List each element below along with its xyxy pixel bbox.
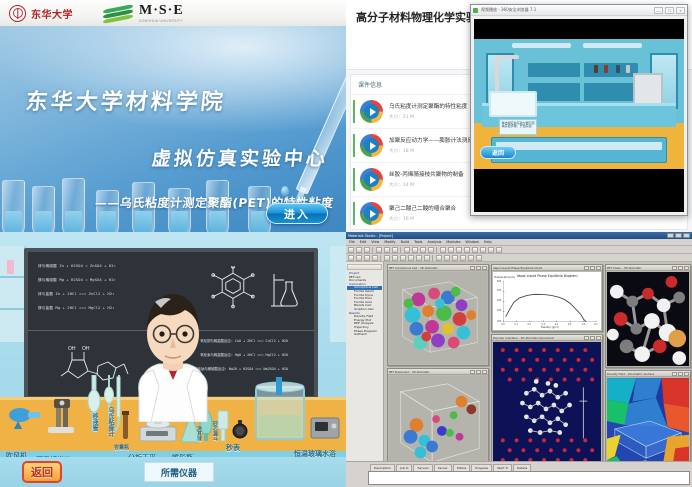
toolbar-icon[interactable]: [472, 247, 478, 253]
toolbar-icon[interactable]: [384, 247, 390, 253]
university-name: 东华大学: [31, 6, 73, 21]
chart-plot-area: Temperature (K) Density (g/cc): [503, 281, 597, 322]
toolbar-icon[interactable]: [392, 247, 398, 253]
mse-wave-icon: [103, 5, 133, 22]
density-field-render: [607, 378, 689, 472]
pane-titlebar[interactable]: PET Amorphous Cell - 3D Atomistic: [388, 265, 488, 271]
temperature-controller-icon[interactable]: [310, 415, 340, 441]
university-seal-icon: [9, 5, 26, 22]
toolbar-icon[interactable]: [384, 255, 390, 261]
window-controls: — □ ×: [654, 7, 685, 14]
amorphous-cell-render: [389, 272, 487, 364]
minimize-button[interactable]: [584, 266, 589, 270]
scientist-character: [119, 272, 227, 422]
hair-dryer-icon[interactable]: [8, 403, 44, 429]
menu-analysis[interactable]: Analysis: [427, 240, 441, 244]
project-tree[interactable]: Project PET.xsd Documents Calculation Am…: [346, 262, 384, 461]
toolbar-icon[interactable]: [444, 255, 450, 261]
x-tick: 0.7: [594, 323, 597, 326]
tab-description[interactable]: Description: [370, 464, 395, 471]
pane-titlebar[interactable]: Vapor-Liquid Phase Equilibria Chart: [492, 265, 602, 271]
stopwatch-icon[interactable]: [232, 419, 248, 441]
mse-logo-text: M·S·E DONGHUA UNIVERSITY: [139, 3, 184, 23]
pane-titlebar[interactable]: Polymer Interface - 3D Atomistic Documen…: [492, 335, 602, 341]
flask-stand-icon: [270, 270, 300, 310]
shelf: [584, 83, 638, 101]
screenshot-collage: 东华大学材料学院 虚拟仿真实验中心 ——乌氏粘度计测定聚酯(PET)的特性粘度 …: [0, 0, 692, 487]
toolbar-icon[interactable]: [356, 255, 362, 261]
toolbar-icon[interactable]: [376, 247, 382, 253]
toolbar-icon[interactable]: [412, 247, 418, 253]
toolbar-icon[interactable]: [408, 255, 414, 261]
chart-xlabel: Density (g/cc): [541, 326, 559, 329]
instruction-note: 单击相应的实验仪器可查看实验步骤，开始实验: [499, 119, 537, 135]
close-button[interactable]: [684, 372, 689, 376]
toolbar-icon[interactable]: [356, 247, 362, 253]
app-icon: [473, 8, 478, 13]
project-tree-header: [347, 264, 382, 270]
label-suction-bulb: 洗耳球: [196, 426, 203, 441]
pane-viewport[interactable]: [389, 272, 487, 364]
toolbar-icon[interactable]: [436, 255, 442, 261]
pane-viewport[interactable]: [493, 342, 601, 472]
splash-subtitle: 虚拟仿真实验中心: [151, 144, 330, 171]
toolbar-icon[interactable]: [460, 255, 466, 261]
x-tick: 0.6: [582, 323, 585, 326]
y-tick: 300: [497, 309, 501, 312]
play-icon[interactable]: [360, 168, 383, 191]
page-title: 高分子材料物理化学实验: [356, 9, 477, 25]
toolbar-icon[interactable]: [448, 247, 454, 253]
tab-status[interactable]: Status: [453, 464, 471, 471]
equation-line: 镁与盐酸 Mg + 2HCl === MgCl2 + H2↑: [38, 306, 115, 311]
svg-text:OH: OH: [82, 346, 90, 352]
x-tick: 0.3: [542, 323, 545, 326]
tab-progress[interactable]: Progress: [471, 464, 492, 471]
control-panel-row: [496, 142, 662, 150]
pane-amorphous-cell[interactable]: PET Amorphous Cell - 3D Atomistic: [387, 264, 489, 366]
menu-file[interactable]: File: [349, 240, 355, 244]
shelf: [528, 63, 580, 77]
label-pipette: 移液管: [90, 413, 99, 431]
minimize-button[interactable]: [584, 336, 589, 340]
close-button[interactable]: [683, 233, 690, 238]
play-icon[interactable]: [360, 100, 383, 123]
ceiling-light: [583, 43, 642, 48]
play-icon[interactable]: [360, 202, 383, 225]
minimize-button[interactable]: [672, 266, 677, 270]
pane-atomistic-zoom[interactable]: PET Chain - 3D Atomistic: [605, 264, 691, 368]
minimize-button[interactable]: —: [654, 7, 663, 14]
toolbar-separator: [380, 255, 382, 261]
menu-window[interactable]: Window: [466, 240, 479, 244]
tab-server[interactable]: Server: [434, 464, 452, 471]
pane-title: PET Amorphous Cell - 3D Atomistic: [389, 266, 469, 270]
pane-viewport[interactable]: [607, 272, 689, 366]
y-tick: 600: [497, 280, 501, 283]
pane-titlebar[interactable]: PET Chain - 3D Atomistic: [606, 265, 690, 271]
toolbar-icon[interactable]: [372, 255, 378, 261]
ms-window-controls: [667, 233, 690, 238]
pane-titlebar[interactable]: PET Dispersed - 3D Atomistic: [388, 369, 488, 375]
atomistic-render: [607, 272, 689, 366]
pane-viewport[interactable]: Vapor-Liquid Phase Equilibria Diagram Te…: [493, 272, 601, 330]
menu-build[interactable]: Build: [401, 240, 410, 244]
maximize-button[interactable]: [590, 266, 595, 270]
toolbar-icon[interactable]: [424, 255, 430, 261]
reagent-bottle-icon: [616, 65, 620, 73]
minimize-button[interactable]: [470, 266, 475, 270]
minimize-button[interactable]: [672, 372, 677, 376]
toolbar-separator: [432, 255, 434, 261]
toolbar-icon[interactable]: [456, 247, 462, 253]
x-tick: 0.2: [527, 323, 530, 326]
x-tick: 0.0: [501, 323, 504, 326]
menu-edit[interactable]: Edit: [360, 240, 367, 244]
pane-title: PET Chain - 3D Atomistic: [607, 266, 671, 270]
close-button[interactable]: ×: [676, 7, 685, 14]
ms-titlebar: Materials Studio - [Project]: [346, 232, 692, 239]
ms-toolbar-row-2[interactable]: [346, 254, 692, 262]
close-button[interactable]: [684, 266, 689, 270]
pane-phase-chart[interactable]: Vapor-Liquid Phase Equilibria Chart Vapo…: [491, 264, 603, 332]
toolbar-icon[interactable]: [440, 247, 446, 253]
x-tick: 0.5: [568, 323, 571, 326]
close-button[interactable]: [596, 336, 601, 340]
panel-splash-screen: 东华大学材料学院 虚拟仿真实验中心 ——乌氏粘度计测定聚酯(PET)的特性粘度 …: [0, 0, 346, 232]
pane-interface-view[interactable]: Polymer Interface - 3D Atomistic Documen…: [491, 334, 603, 474]
toolbar-icon[interactable]: [348, 255, 354, 261]
menu-help[interactable]: Help: [484, 240, 492, 244]
toolbar-icon[interactable]: [468, 255, 474, 261]
video-viewport[interactable]: 单击相应的实验仪器可查看实验步骤，开始实验 返回: [474, 19, 684, 212]
toolbar-icon[interactable]: [404, 247, 410, 253]
menu-view[interactable]: View: [371, 240, 379, 244]
toolbar-icon[interactable]: [348, 247, 354, 253]
menu-modules[interactable]: Modules: [446, 240, 460, 244]
svg-text:OH: OH: [68, 346, 76, 352]
y-tick: 400: [497, 299, 501, 302]
reagent-bottle-icon: [594, 65, 598, 73]
maximize-button[interactable]: [590, 336, 595, 340]
toolbar-icon[interactable]: [364, 255, 370, 261]
pane-dispersed-cell[interactable]: PET Dispersed - 3D Atomistic: [387, 368, 489, 474]
sink-icon: [489, 91, 537, 117]
maximize-button[interactable]: □: [665, 7, 674, 14]
video-window-title: 视频播放 - 360安全浏览器 7.1: [481, 7, 654, 13]
chart-ylabel: Temperature (K): [494, 276, 515, 279]
tab-details[interactable]: Details: [513, 464, 531, 471]
status-tabs[interactable]: Description Job Id Servers Server Status…: [346, 462, 692, 471]
maximize-button[interactable]: [678, 372, 683, 376]
tree-item[interactable]: Isotherm: [347, 333, 382, 337]
toolbar-icon[interactable]: [496, 247, 502, 253]
toolbar-icon[interactable]: [392, 255, 398, 261]
pane-viewport[interactable]: [389, 376, 487, 472]
equation-line: 锌与盐酸 Zn + 2HCl === ZnCl2 + H2↑: [38, 292, 115, 297]
toolbar-icon[interactable]: [476, 255, 482, 261]
toolbar-icon[interactable]: [464, 247, 470, 253]
status-log-area[interactable]: [368, 471, 690, 485]
maximize-button[interactable]: [675, 233, 682, 238]
label-volumetric-flask: 容量瓶: [114, 444, 129, 451]
back-button[interactable]: 返回: [22, 461, 62, 483]
label-ubbelohde-viscometer: 乌氏粘度计: [106, 407, 115, 437]
toolbar-icon[interactable]: [488, 247, 494, 253]
toolbar-separator: [400, 247, 402, 253]
required-instruments-button[interactable]: 所需仪器: [144, 462, 214, 482]
minimize-button[interactable]: [470, 370, 475, 374]
interface-render: [493, 342, 601, 472]
ms-document-panes: PET Amorphous Cell - 3D Atomistic: [385, 262, 692, 461]
maximize-button[interactable]: [476, 370, 481, 374]
video-back-button[interactable]: 返回: [480, 146, 516, 159]
ms-status-panel: Description Job Id Servers Server Status…: [346, 461, 692, 487]
toolbar-icon[interactable]: [364, 247, 370, 253]
toolbar-separator: [372, 247, 374, 253]
ceiling-light: [512, 43, 571, 48]
x-tick: 0.1: [514, 323, 517, 326]
ms-menubar[interactable]: File Edit View Modify Build Tools Analys…: [346, 239, 692, 246]
mse-main-text: M·S·E: [139, 3, 184, 19]
menu-modify[interactable]: Modify: [384, 240, 395, 244]
pane-title: Polymer Interface - 3D Atomistic Documen…: [493, 336, 583, 340]
menu-tools[interactable]: Tools: [414, 240, 422, 244]
toolbar-icon[interactable]: [480, 247, 486, 253]
tab-servers[interactable]: Servers: [413, 464, 432, 471]
logo-bar: 东华大学 M·S·E DONGHUA UNIVERSITY: [0, 0, 346, 26]
label-stopwatch: 秒表: [226, 443, 240, 453]
toolbar-icon[interactable]: [416, 255, 422, 261]
tab-job-id[interactable]: Job Id: [396, 464, 412, 471]
constant-temperature-water-bath-icon[interactable]: [252, 377, 308, 443]
toolbar-icon[interactable]: [452, 255, 458, 261]
pane-density-field[interactable]: Density Field - Volumetric Surface: [605, 370, 691, 474]
video-window-titlebar: 视频播放 - 360安全浏览器 7.1 — □ ×: [471, 5, 687, 16]
toolbar-icon[interactable]: [420, 247, 426, 253]
virtual-lab-scene: 单击相应的实验仪器可查看实验步骤，开始实验 返回: [474, 39, 684, 169]
chart-svg: [503, 281, 597, 322]
x-tick: 0.4: [555, 323, 558, 326]
ms-window-title: Materials Studio - [Project]: [348, 234, 393, 238]
pane-titlebar[interactable]: Density Field - Volumetric Surface: [606, 371, 690, 377]
ms-toolbar-row-1[interactable]: [346, 246, 692, 254]
enter-button[interactable]: 进入: [266, 203, 328, 224]
item-size: 大小：16 M: [389, 216, 671, 222]
left-wall-shelf: [0, 246, 26, 342]
y-tick: 500: [497, 289, 501, 292]
ms-workspace: Project PET.xsd Documents Calculation Am…: [346, 262, 692, 461]
dispersed-cell-render: [389, 376, 487, 472]
maximize-button[interactable]: [476, 266, 481, 270]
pane-title: Density Field - Volumetric Surface: [607, 372, 671, 376]
maximize-button[interactable]: [678, 266, 683, 270]
abbe-refractometer-icon[interactable]: [44, 395, 78, 435]
toolbar-separator: [436, 247, 438, 253]
panel-courseware-page: 高分子材料物理化学实验 课件信息 乌氏粘度计测定聚酯的特性粘度 大小：21 M …: [346, 0, 692, 232]
equation-line: 锌与稀硫酸 Zn + H2SO4 = ZnSO4 + H2↑: [38, 264, 116, 269]
label-sintered-funnel: 砂芯漏斗: [212, 421, 219, 441]
splash-background-photo: 东华大学材料学院 虚拟仿真实验中心 ——乌氏粘度计测定聚酯(PET)的特性粘度 …: [0, 26, 346, 232]
reagent-bottle-icon: [626, 65, 630, 73]
pane-title: PET Dispersed - 3D Atomistic: [389, 370, 469, 374]
close-button[interactable]: [482, 370, 487, 374]
control-panel[interactable]: [491, 137, 667, 163]
toolbar-icon[interactable]: [428, 247, 434, 253]
splash-title: 东华大学材料学院: [24, 84, 227, 116]
right-wall-shelf: [330, 246, 346, 342]
close-button[interactable]: [482, 266, 487, 270]
panel-materials-studio: Materials Studio - [Project] File Edit V…: [346, 232, 692, 487]
tab-start-time[interactable]: Start Ti: [493, 464, 512, 471]
toolbar-icon[interactable]: [400, 255, 406, 261]
equation-line: 镁与稀硫酸 Mg + H2SO4 = MgSO4 + H2↑: [38, 278, 116, 283]
play-icon[interactable]: [360, 134, 383, 157]
faucet-icon: [495, 57, 499, 93]
pane-viewport[interactable]: [607, 378, 689, 472]
minimize-button[interactable]: [667, 233, 674, 238]
video-player-window[interactable]: 视频播放 - 360安全浏览器 7.1 — □ ×: [470, 4, 688, 216]
pane-title: Vapor-Liquid Phase Equilibria Chart: [493, 266, 583, 270]
panel-virtual-lab: 锌与稀硫酸 Zn + H2SO4 = ZnSO4 + H2↑ 镁与稀硫酸 Mg …: [0, 232, 346, 487]
mse-sub-text: DONGHUA UNIVERSITY: [139, 19, 184, 23]
reagent-bottle-icon: [604, 65, 608, 73]
close-button[interactable]: [596, 266, 601, 270]
